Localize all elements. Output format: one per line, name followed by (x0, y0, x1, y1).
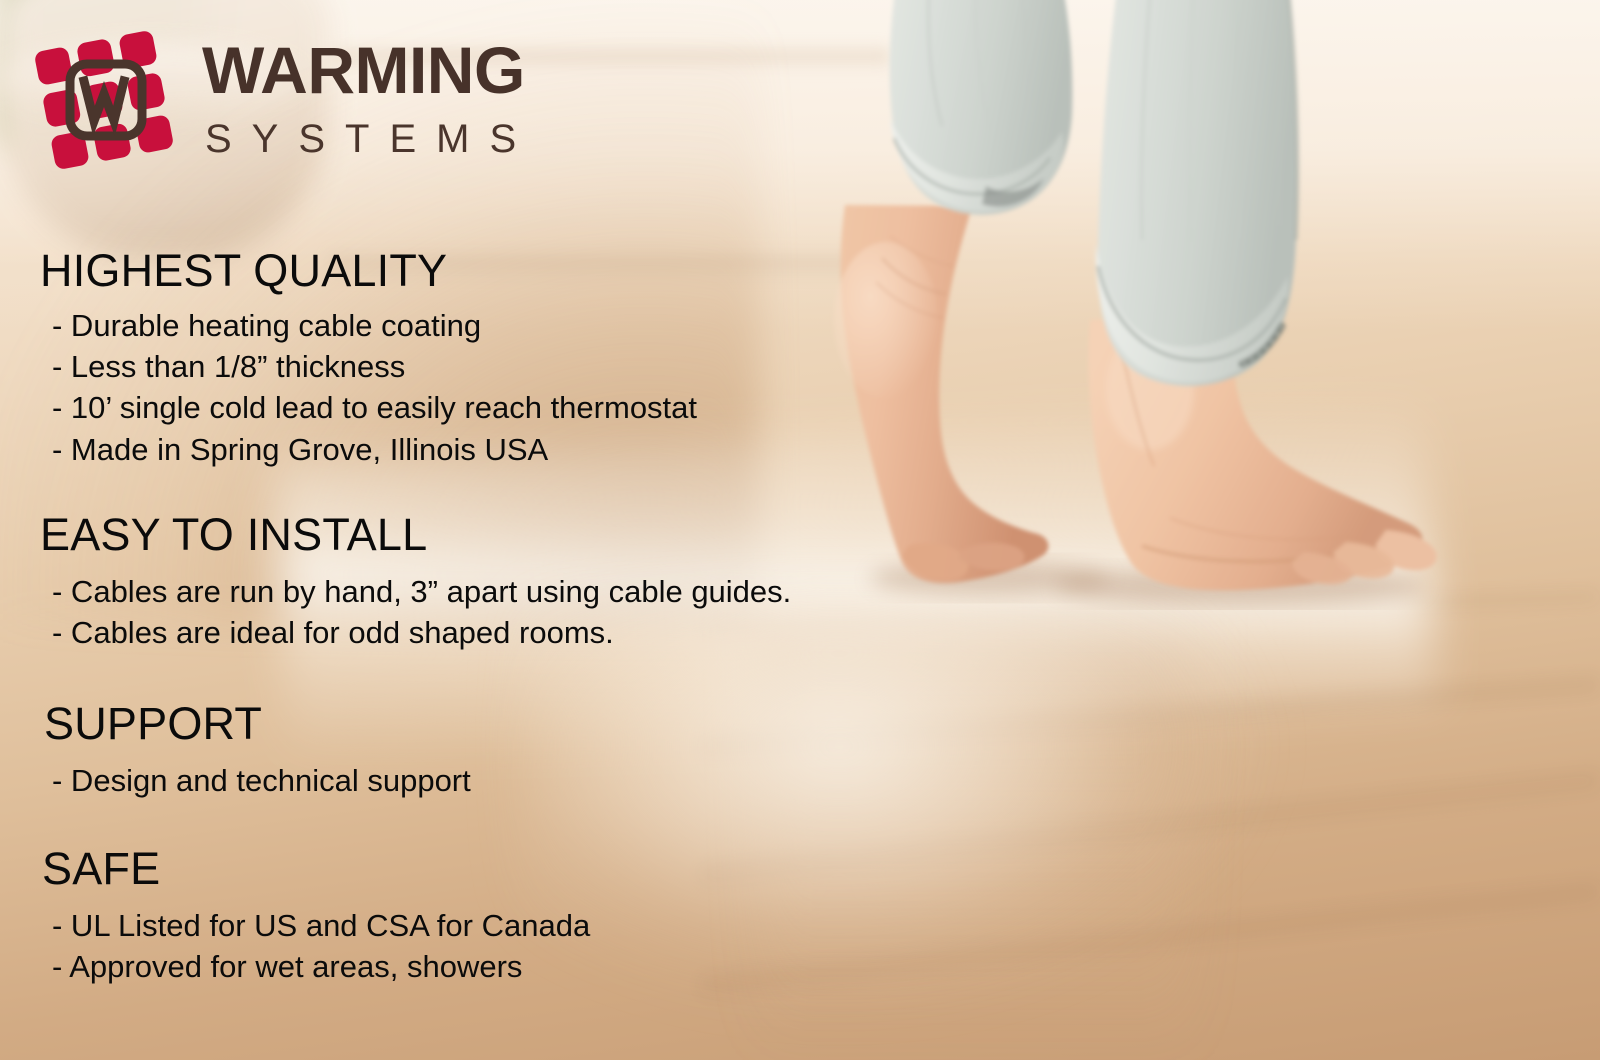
section-easy-to-install: EASY TO INSTALL - Cables are run by hand… (0, 512, 800, 653)
heading-easy-to-install: EASY TO INSTALL (0, 512, 800, 557)
section-support: SUPPORT - Design and technical support (0, 701, 800, 801)
bullets-highest-quality: - Durable heating cable coating - Less t… (0, 305, 800, 470)
warming-systems-tile-logo-icon (28, 24, 180, 176)
bare-feet-photo-illustration (790, 0, 1490, 610)
floor-reflection (760, 610, 1190, 1060)
feature-list: HIGHEST QUALITY - Durable heating cable … (0, 248, 800, 1005)
marketing-slide: WARMING SYSTEMS HIGHEST QUALITY - Durabl… (0, 0, 1600, 1060)
list-item: - UL Listed for US and CSA for Canada (0, 905, 800, 946)
list-item: - Made in Spring Grove, Illinois USA (0, 429, 800, 470)
heading-support: SUPPORT (0, 701, 800, 746)
list-item: - Cables are ideal for odd shaped rooms. (0, 612, 800, 653)
section-highest-quality: HIGHEST QUALITY - Durable heating cable … (0, 248, 800, 470)
brand-logo: WARMING SYSTEMS (28, 24, 536, 176)
list-item: - Design and technical support (0, 760, 800, 801)
bullets-safe: - UL Listed for US and CSA for Canada - … (0, 905, 800, 987)
section-safe: SAFE - UL Listed for US and CSA for Cana… (0, 846, 800, 987)
list-item: - Less than 1/8” thickness (0, 346, 800, 387)
brand-name-primary: WARMING (202, 37, 536, 103)
list-item: - Durable heating cable coating (0, 305, 800, 346)
bullets-easy-to-install: - Cables are run by hand, 3” apart using… (0, 571, 800, 653)
list-item: - Approved for wet areas, showers (0, 946, 800, 987)
brand-name-secondary: SYSTEMS (202, 119, 536, 159)
heading-safe: SAFE (0, 846, 800, 891)
bullets-support: - Design and technical support (0, 760, 800, 801)
brand-wordmark: WARMING SYSTEMS (202, 37, 536, 163)
list-item: - Cables are run by hand, 3” apart using… (0, 571, 800, 612)
list-item: - 10’ single cold lead to easily reach t… (0, 387, 800, 428)
wood-floor-plank-seams (700, 560, 1600, 1060)
heading-highest-quality: HIGHEST QUALITY (0, 248, 800, 293)
